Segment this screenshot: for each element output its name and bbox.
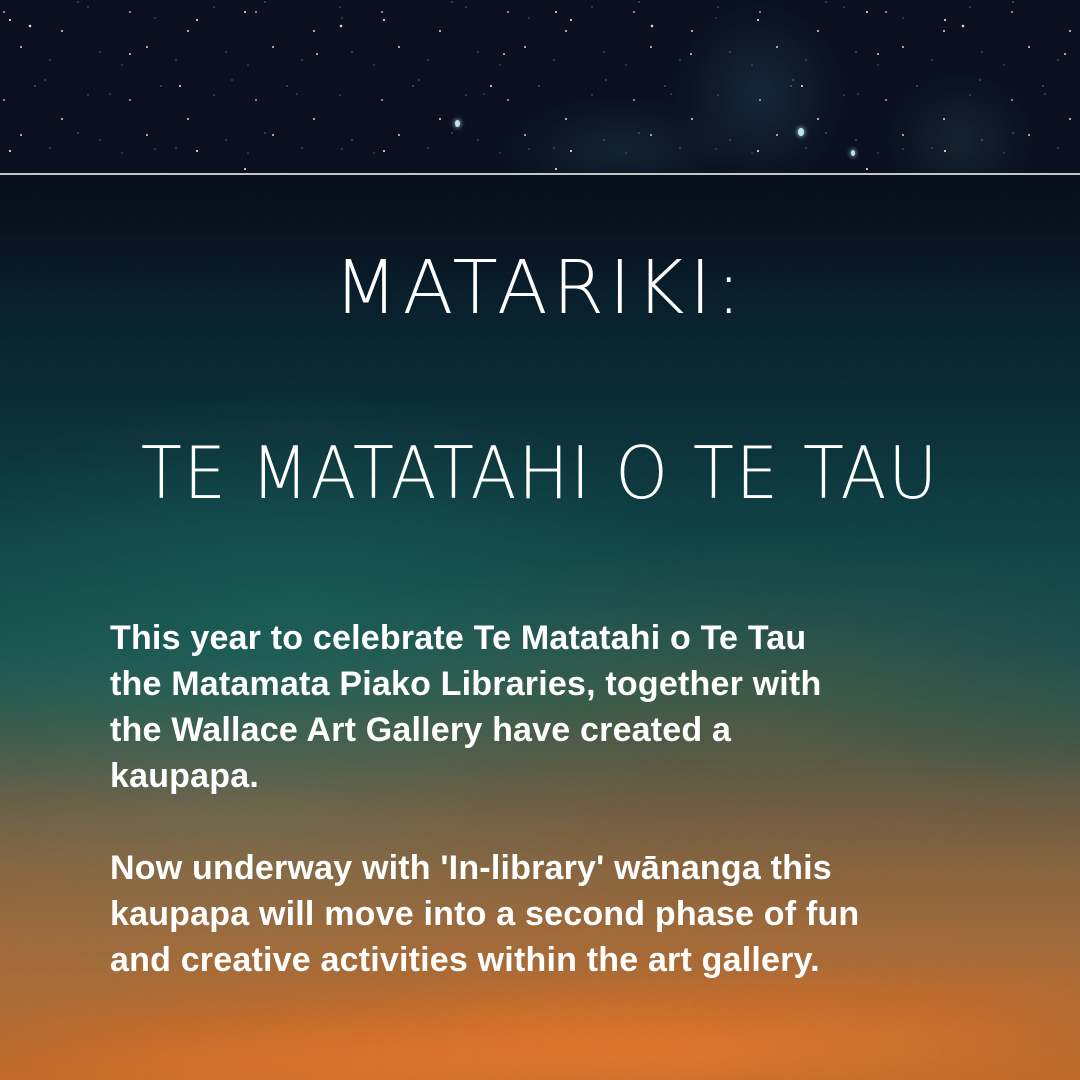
poster-subtitle: TE MATATAHI O TE TAU [38,437,1042,509]
milky-way-starfield-image [0,0,1080,174]
poster-content: MATARIKI: TE MATATAHI O TE TAU This year… [0,175,1080,1080]
star-layer-bright [0,0,1080,174]
matariki-poster: MATARIKI: TE MATATAHI O TE TAU This year… [0,0,1080,1080]
body-paragraph-1: This year to celebrate Te Matatahi o Te … [110,615,1010,799]
blue-star-icon [798,128,804,136]
poster-title: MATARIKI: [0,251,1080,325]
blue-star-icon [851,150,855,156]
blue-star-icon [455,120,460,127]
poster-body: This year to celebrate Te Matatahi o Te … [110,615,1010,983]
body-paragraph-2: Now underway with 'In-library' wānanga t… [110,845,1010,983]
